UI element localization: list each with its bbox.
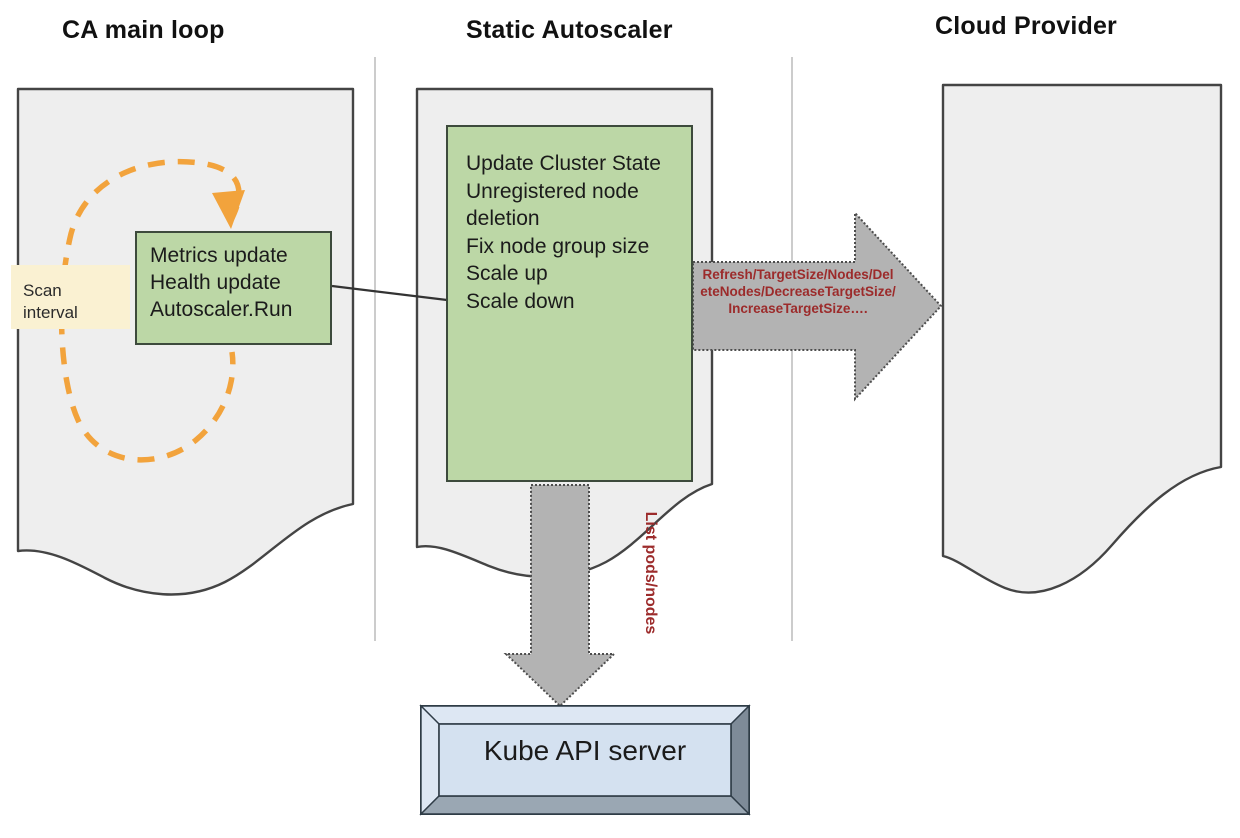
kube-api-server-label: Kube API server xyxy=(440,735,730,767)
static-box-line-6: Scale down xyxy=(466,288,691,316)
static-box-line-3: deletion xyxy=(466,205,691,233)
metrics-update-box[interactable]: Metrics update Health update Autoscaler.… xyxy=(135,231,332,345)
lane-title-static-autoscaler: Static Autoscaler xyxy=(466,16,673,45)
static-autoscaler-box[interactable]: Update Cluster State Unregistered node d… xyxy=(446,125,693,482)
metrics-box-line-1: Metrics update xyxy=(150,242,330,269)
static-box-line-1: Update Cluster State xyxy=(466,150,691,178)
scan-interval-line-2: interval xyxy=(23,302,130,324)
lane-title-ca-main-loop: CA main loop xyxy=(62,16,225,45)
static-box-line-5: Scale up xyxy=(466,260,691,288)
diagram-canvas: CA main loop Static Autoscaler Cloud Pro… xyxy=(0,0,1240,838)
static-box-line-2: Unregistered node xyxy=(466,178,691,206)
metrics-box-line-3: Autoscaler.Run xyxy=(150,296,330,323)
kube-api-arrow-label: List pods/nodes xyxy=(642,493,659,653)
lane-title-cloud-provider: Cloud Provider xyxy=(935,12,1117,41)
scan-interval-line-1: Scan xyxy=(23,280,130,302)
cloud-provider-document xyxy=(943,85,1221,592)
cloud-provider-arrow-label: Refresh/TargetSize/Nodes/DeleteNodes/Dec… xyxy=(700,266,896,317)
scan-interval-note: Scan interval xyxy=(11,265,130,329)
static-box-line-4: Fix node group size xyxy=(466,233,691,261)
metrics-box-line-2: Health update xyxy=(150,269,330,296)
